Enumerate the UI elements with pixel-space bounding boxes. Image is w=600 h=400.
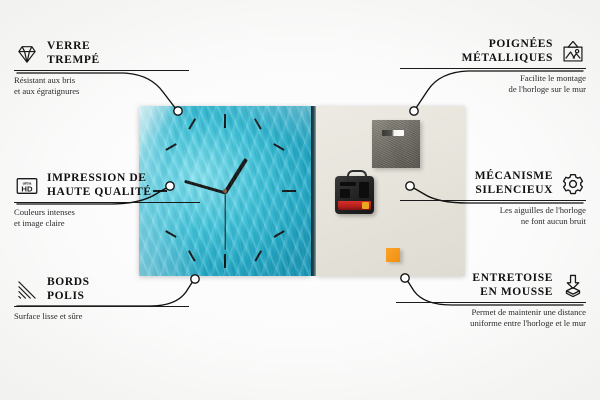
divider (396, 302, 586, 303)
feature-title: IMPRESSION DE HAUTE QUALITÉ (47, 172, 152, 199)
clock-tick (273, 230, 284, 237)
clock-tick (188, 118, 195, 129)
diamond-icon (14, 41, 40, 67)
feature-header: ultra HD IMPRESSION DE HAUTE QUALITÉ (14, 172, 200, 199)
clock-tick (188, 250, 195, 261)
feature-impression-haute-qualite: ultra HD IMPRESSION DE HAUTE QUALITÉ Cou… (14, 172, 200, 228)
feature-title: BORDS POLIS (47, 276, 90, 303)
feature-poignees-metalliques: POIGNÉES MÉTALLIQUES Facilite le montage… (400, 38, 586, 94)
infographic-canvas: VERRE TREMPÉ Résistant aux bris et aux é… (0, 0, 600, 400)
gear-icon (560, 171, 586, 197)
hanger-plate (372, 120, 420, 168)
feature-title: ENTRETOISE EN MOUSSE (472, 272, 553, 299)
polished-edge-icon (14, 277, 40, 303)
divider (14, 70, 189, 71)
feature-description: Résistant aux bris et aux égratignures (14, 75, 189, 96)
feature-header: BORDS POLIS (14, 276, 189, 303)
feature-title: MÉCANISME SILENCIEUX (475, 170, 553, 197)
divider (400, 68, 586, 69)
icon-text-hd: HD (21, 184, 33, 193)
feature-header: MÉCANISME SILENCIEUX (400, 170, 586, 197)
feature-verre-trempe: VERRE TREMPÉ Résistant aux bris et aux é… (14, 40, 189, 96)
battery-terminal (362, 202, 369, 209)
feature-title: VERRE TREMPÉ (47, 40, 100, 67)
mechanism-detail (340, 182, 356, 186)
framed-picture-hanging-icon (560, 39, 586, 65)
clock-tick (165, 230, 176, 237)
feature-description: Surface lisse et sûre (14, 311, 189, 322)
clock-tick (165, 143, 176, 150)
mechanism-hanger-loop (347, 170, 367, 182)
clock-hour-hand (223, 158, 248, 194)
feature-entretoise-en-mousse: ENTRETOISE EN MOUSSE Permet de maintenir… (396, 272, 586, 328)
feature-mecanisme-silencieux: MÉCANISME SILENCIEUX Les aiguilles de l'… (400, 170, 586, 226)
mechanism-battery (338, 201, 371, 210)
clock-tick (282, 190, 296, 192)
feature-description: Permet de maintenir une distance uniform… (396, 307, 586, 328)
ultra-hd-icon: ultra HD (14, 173, 40, 199)
divider (14, 306, 189, 307)
clock-tick (273, 143, 284, 150)
clock-tick (254, 118, 261, 129)
hanger-slot (382, 130, 404, 136)
connector-endpoint (191, 275, 199, 283)
clock-hand-pivot (223, 189, 227, 193)
divider (14, 202, 200, 203)
clock-second-hand (224, 192, 225, 250)
feature-header: POIGNÉES MÉTALLIQUES (400, 38, 586, 65)
feature-description: Facilite le montage de l'horloge sur le … (400, 73, 586, 94)
feature-description: Couleurs intenses et image claire (14, 207, 200, 228)
clock-tick (224, 114, 226, 128)
feature-title: POIGNÉES MÉTALLIQUES (462, 38, 553, 65)
foam-spacer (386, 248, 400, 262)
spacer-down-arrow-icon (560, 273, 586, 299)
mechanism-detail (340, 189, 350, 198)
feature-header: VERRE TREMPÉ (14, 40, 189, 67)
feature-description: Les aiguilles de l'horloge ne font aucun… (400, 205, 586, 226)
clock-mechanism (335, 176, 374, 214)
divider (400, 200, 586, 201)
clock-tick (224, 254, 226, 268)
clock-tick (254, 250, 261, 261)
feature-header: ENTRETOISE EN MOUSSE (396, 272, 586, 299)
mechanism-detail (359, 182, 369, 198)
feature-bords-polis: BORDS POLIS Surface lisse et sûre (14, 276, 189, 322)
